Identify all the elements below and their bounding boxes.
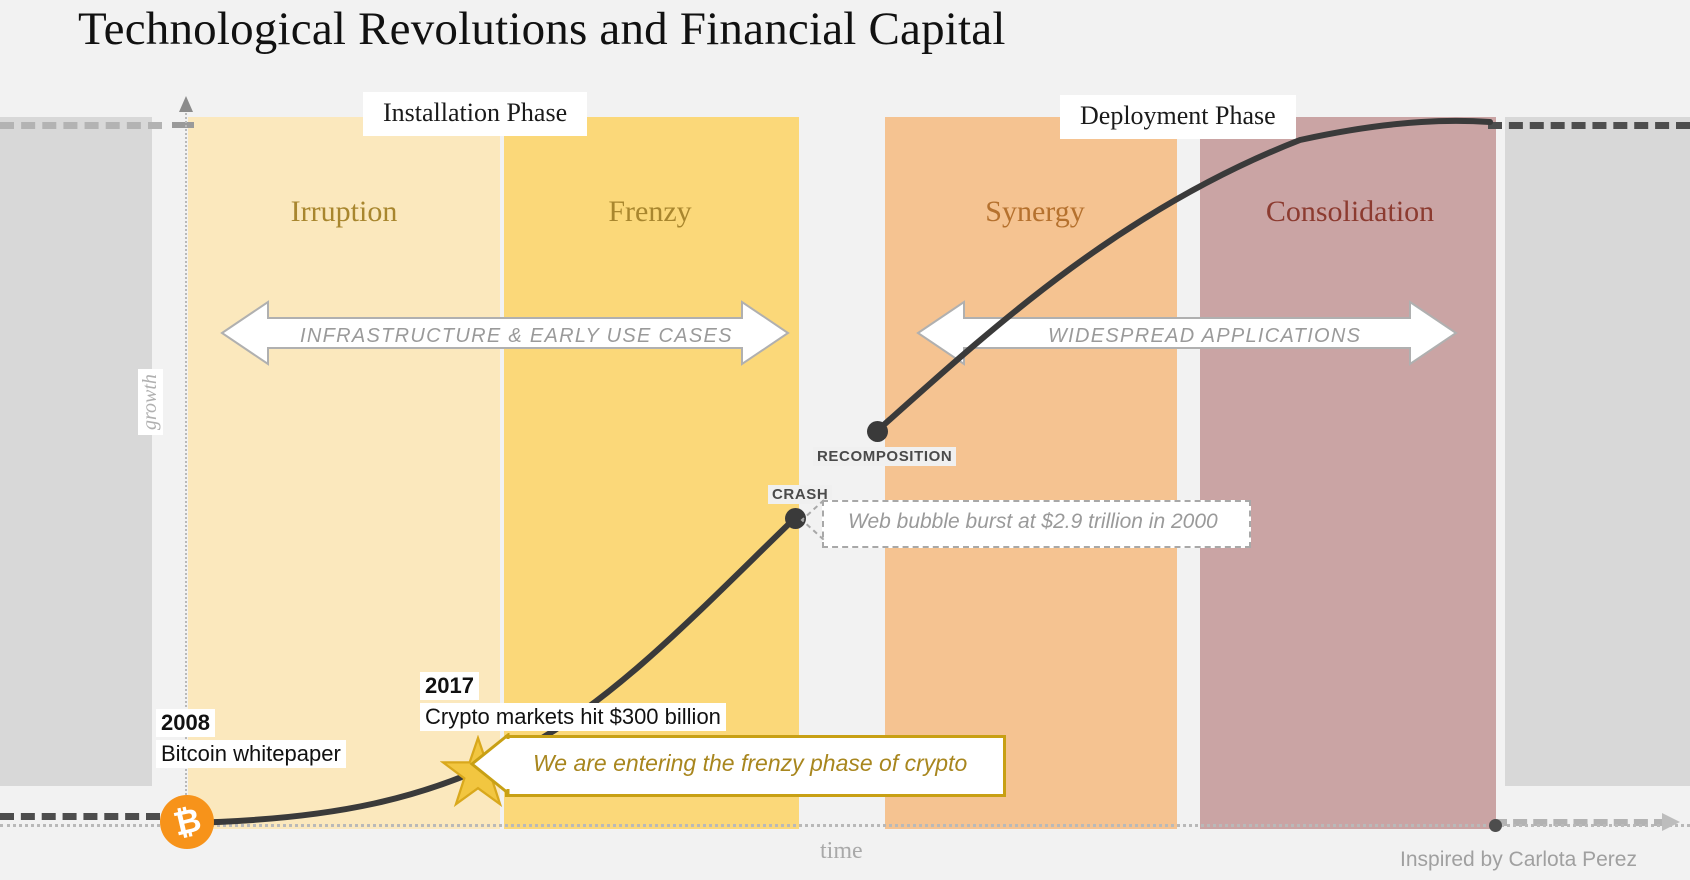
bitcoin-glyph: ₿: [170, 802, 204, 840]
credit-label: Inspired by Carlota Perez: [1400, 848, 1637, 872]
crash-callout-text: Web bubble burst at $2.9 trillion in 200…: [848, 510, 1218, 534]
bitcoin-icon: ₿: [160, 795, 214, 849]
milestone-2008-desc: Bitcoin whitepaper: [156, 740, 346, 768]
crash-callout-tail-icon: [790, 495, 850, 555]
frenzy-speech-bubble-text: We are entering the frenzy phase of cryp…: [533, 750, 967, 777]
recomposition-node-dot: [867, 421, 888, 442]
milestone-2008-year: 2008: [156, 709, 215, 737]
speech-bubble-tail-icon: [466, 733, 526, 795]
milestone-2017-desc: Crypto markets hit $300 billion: [420, 703, 726, 731]
diagram-canvas: Technological Revolutions and Financial …: [0, 0, 1690, 880]
banner-label-deployment: WIDESPREAD APPLICATIONS: [1048, 325, 1361, 348]
milestone-2017-year: 2017: [420, 672, 479, 700]
recomposition-node-label: RECOMPOSITION: [813, 447, 956, 466]
banner-label-installation: INFRASTRUCTURE & EARLY USE CASES: [300, 325, 733, 348]
